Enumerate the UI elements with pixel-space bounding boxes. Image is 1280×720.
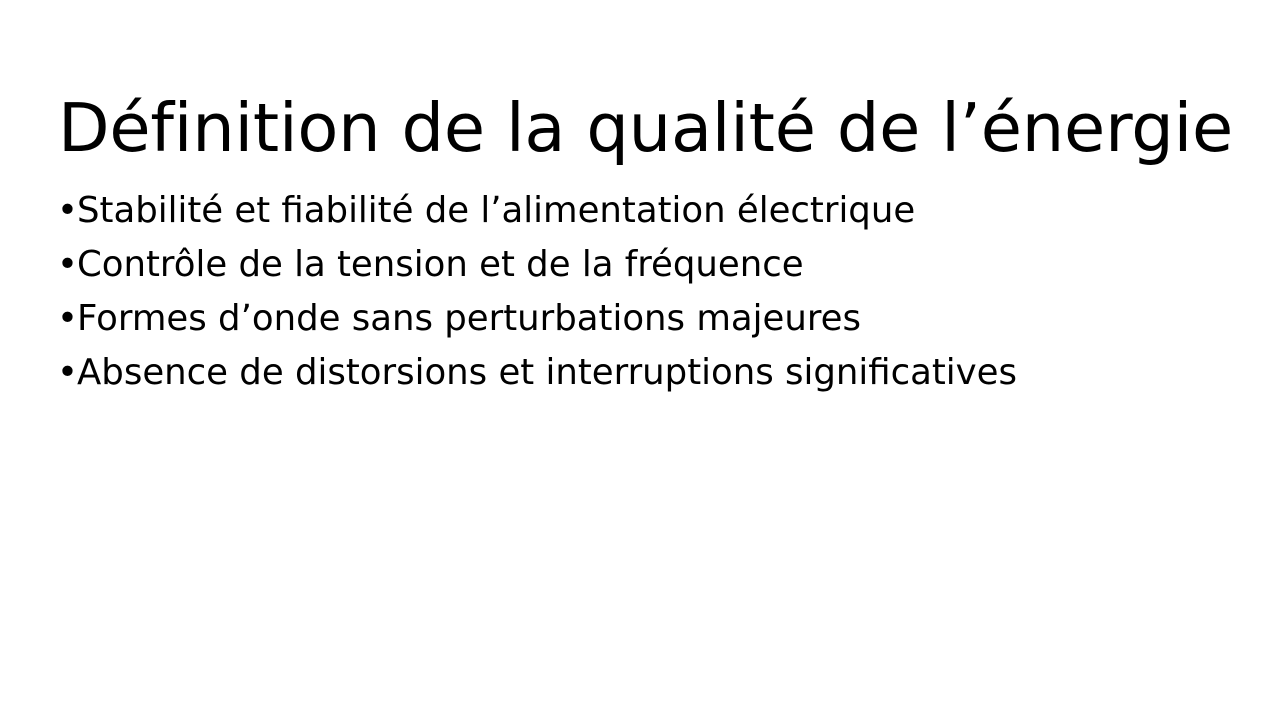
bullet-point-icon: •: [57, 346, 77, 400]
slide-title: Définition de la qualité de l’énergie: [58, 91, 1222, 166]
bullet-point-icon: •: [57, 184, 77, 238]
list-item: • Formes d’onde sans perturbations majeu…: [57, 292, 1227, 346]
list-item-label: Stabilité et fiabilité de l’alimentation…: [77, 184, 915, 238]
list-item-label: Contrôle de la tension et de la fréquenc…: [77, 238, 804, 292]
bullet-point-icon: •: [57, 238, 77, 292]
bullet-list: • Stabilité et fiabilité de l’alimentati…: [57, 184, 1227, 400]
list-item-label: Formes d’onde sans perturbations majeure…: [77, 292, 861, 346]
list-item: • Absence de distorsions et interruption…: [57, 346, 1227, 400]
list-item-label: Absence de distorsions et interruptions …: [77, 346, 1017, 400]
slide-canvas: Définition de la qualité de l’énergie • …: [0, 0, 1280, 720]
bullet-point-icon: •: [57, 292, 77, 346]
list-item: • Stabilité et fiabilité de l’alimentati…: [57, 184, 1227, 238]
list-item: • Contrôle de la tension et de la fréque…: [57, 238, 1227, 292]
